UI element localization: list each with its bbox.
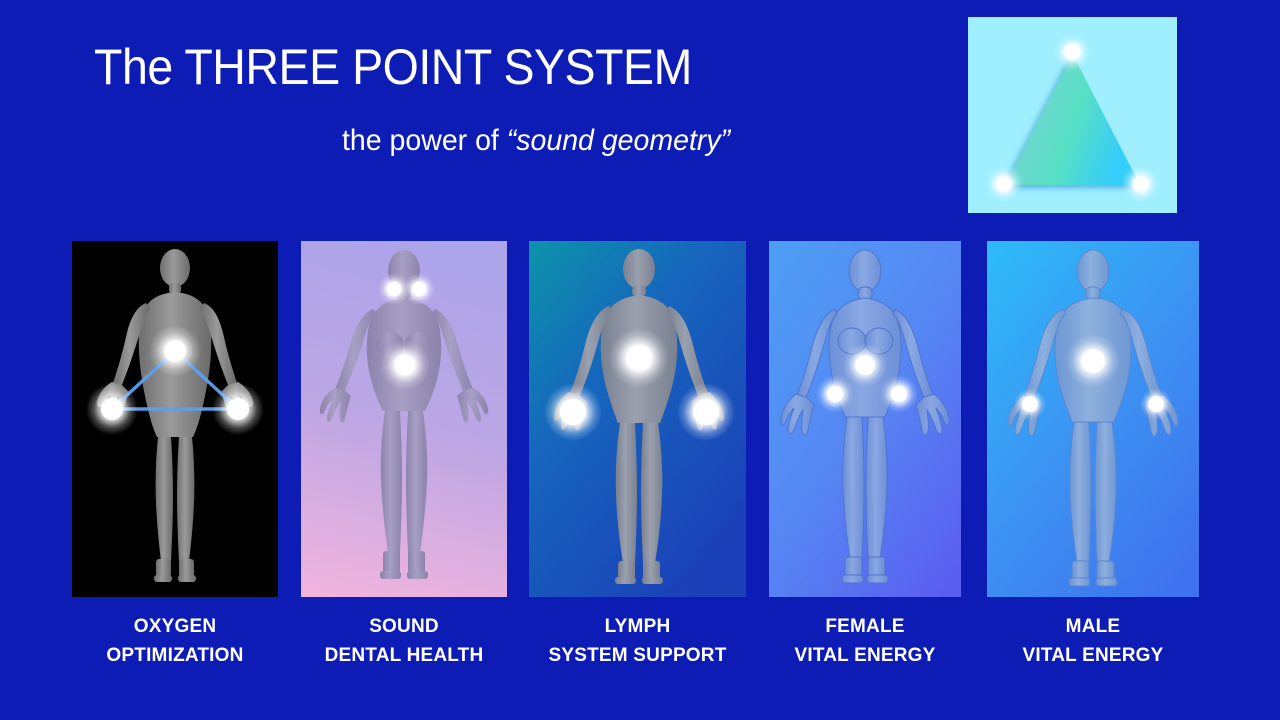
caption-line-1: FEMALE: [769, 612, 961, 641]
caption-male-vital-energy: MALE VITAL ENERGY: [987, 612, 1199, 670]
caption-line-2: VITAL ENERGY: [769, 641, 961, 670]
three-point-triangle-logo: [968, 17, 1177, 213]
body-figure-oxygen-icon: [72, 241, 278, 597]
caption-line-1: LYMPH: [529, 612, 746, 641]
caption-oxygen-optimization: OXYGEN OPTIMIZATION: [72, 612, 278, 670]
body-figure-lymph-icon: [529, 241, 746, 597]
caption-sound-dental-health: SOUND DENTAL HEALTH: [301, 612, 507, 670]
caption-line-2: OPTIMIZATION: [72, 641, 278, 670]
panel-oxygen-optimization[interactable]: [72, 241, 278, 597]
caption-line-1: SOUND: [301, 612, 507, 641]
caption-line-1: OXYGEN: [72, 612, 278, 641]
caption-line-2: VITAL ENERGY: [987, 641, 1199, 670]
body-figure-female-icon: [769, 241, 961, 597]
panel-male-vital-energy[interactable]: [987, 241, 1199, 597]
caption-line-2: SYSTEM SUPPORT: [529, 641, 746, 670]
page-title-prefix: The: [94, 39, 184, 95]
panel-captions: OXYGEN OPTIMIZATION SOUND DENTAL HEALTH …: [0, 612, 1280, 682]
page-subtitle-prefix: the power of: [342, 124, 507, 157]
page-subtitle: the power of “sound geometry”: [342, 126, 730, 156]
panel-sound-dental-health[interactable]: [301, 241, 507, 597]
caption-line-2: DENTAL HEALTH: [301, 641, 507, 670]
page-title: The THREE POINT SYSTEM: [94, 42, 692, 92]
caption-lymph-system-support: LYMPH SYSTEM SUPPORT: [529, 612, 746, 670]
panel-lymph-system-support[interactable]: [529, 241, 746, 597]
body-figure-male-icon: [987, 241, 1199, 597]
slide-header: The THREE POINT SYSTEM the power of “sou…: [0, 0, 1280, 225]
triangle-logo-icon: [968, 17, 1177, 213]
caption-line-1: MALE: [987, 612, 1199, 641]
page-subtitle-emphasis: “sound geometry”: [507, 124, 730, 157]
caption-female-vital-energy: FEMALE VITAL ENERGY: [769, 612, 961, 670]
page-title-main: THREE POINT SYSTEM: [184, 39, 692, 95]
body-panel-strip: [0, 241, 1280, 597]
panel-female-vital-energy[interactable]: [769, 241, 961, 597]
body-figure-dental-icon: [301, 241, 507, 597]
